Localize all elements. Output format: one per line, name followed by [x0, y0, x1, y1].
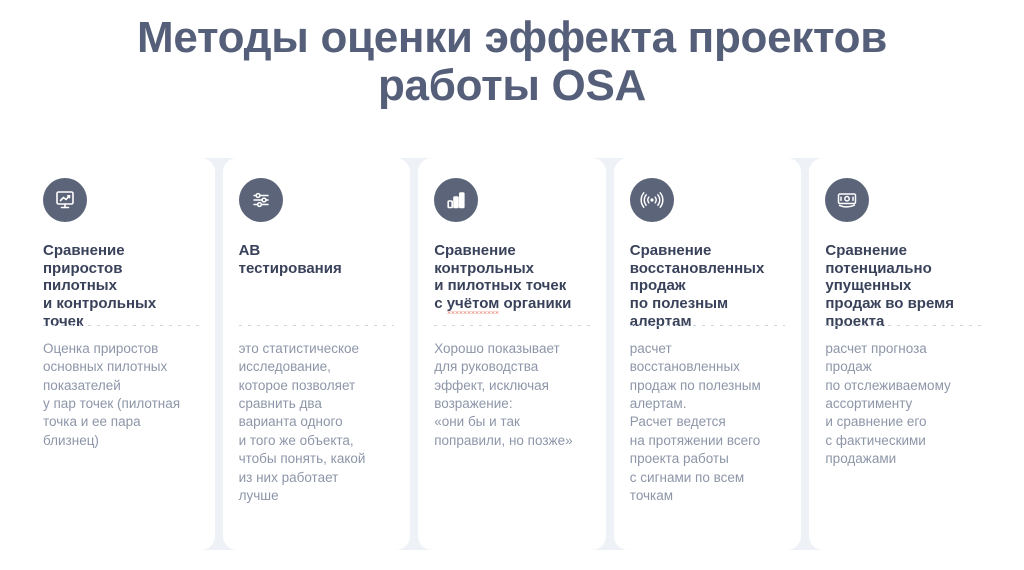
card-lost-sales-forecast[interactable]: Сравнение потенциально упущенных продаж …: [809, 158, 997, 550]
card-comparison-organic[interactable]: Сравнение контрольных и пилотных точек с…: [418, 158, 606, 550]
card-body-text: расчет прогноза продаж по отслеживаемому…: [825, 340, 983, 469]
card-title-spellcheck-word: учётом: [447, 295, 500, 314]
card-body-text: Оценка приростов основных пилотных показ…: [43, 340, 201, 450]
banknote-icon: [825, 178, 869, 222]
card-body-text: Хорошо показывает для руководства эффект…: [434, 340, 592, 450]
card-title: Сравнение контрольных и пилотных точек с…: [434, 242, 590, 313]
card-ab-testing[interactable]: AB тестирования это статистическое иссле…: [223, 158, 411, 550]
card-title: Сравнение приростов пилотных и контрольн…: [43, 242, 199, 330]
cards-container: Сравнение приростов пилотных и контрольн…: [27, 158, 997, 550]
card-title: Сравнение восстановленных продаж по поле…: [630, 242, 786, 330]
card-divider: [630, 325, 786, 326]
card-title: Сравнение потенциально упущенных продаж …: [825, 242, 981, 330]
bar-chart-icon: [434, 178, 478, 222]
card-title-part2: органики: [499, 295, 571, 312]
card-body-text: это статистическое исследование, которое…: [239, 340, 397, 505]
card-divider: [239, 325, 395, 326]
presentation-chart-icon: [43, 178, 87, 222]
broadcast-signal-icon: [630, 178, 674, 222]
card-title: AB тестирования: [239, 242, 395, 277]
page-header: Методы оценки эффекта проектов работы OS…: [0, 0, 1024, 111]
sliders-icon: [239, 178, 283, 222]
card-divider: [43, 325, 199, 326]
card-divider: [825, 325, 981, 326]
card-divider: [434, 325, 590, 326]
card-restored-sales-alerts[interactable]: Сравнение восстановленных продаж по поле…: [614, 158, 802, 550]
page-title: Методы оценки эффекта проектов работы OS…: [0, 14, 1024, 111]
card-comparison-pilot-control[interactable]: Сравнение приростов пилотных и контрольн…: [27, 158, 215, 550]
card-body-text: расчет восстановленных продаж по полезны…: [630, 340, 788, 505]
